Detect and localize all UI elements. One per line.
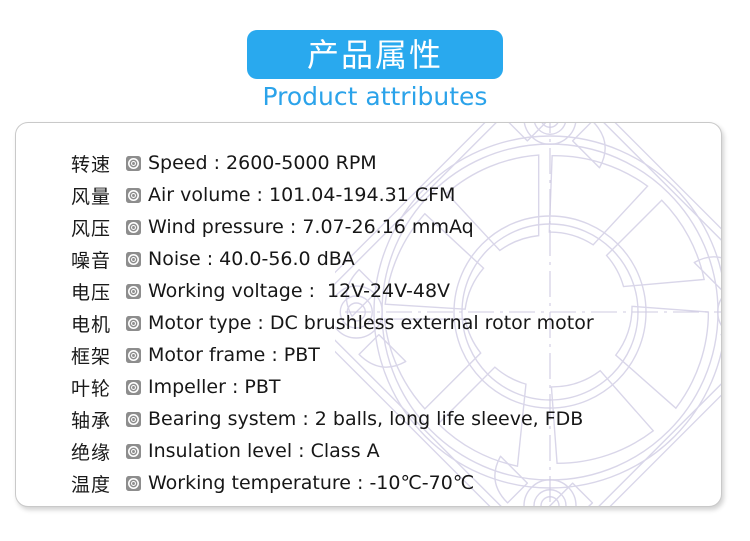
fan-icon xyxy=(126,188,141,203)
title-badge: 产品属性 xyxy=(247,30,503,79)
spec-row: 轴承 Bearing system : 2 balls, long life s… xyxy=(71,403,594,435)
spec-label-cn: 转速 xyxy=(71,150,123,177)
spec-row: 绝缘 Insulation level : Class A xyxy=(71,435,594,467)
fan-icon xyxy=(126,252,141,267)
spec-value-en: Impeller : PBT xyxy=(148,376,281,398)
spec-label-cn: 轴承 xyxy=(71,406,123,433)
attributes-card: 转速 Speed : 2600-5000 RPM 风量 Air volume :… xyxy=(15,122,722,507)
fan-icon xyxy=(126,444,141,459)
spec-value-en: Wind pressure : 7.07-26.16 mmAq xyxy=(148,216,474,238)
spec-value-en: Working temperature : -10℃-70℃ xyxy=(148,472,474,494)
fan-icon xyxy=(126,156,141,171)
fan-icon xyxy=(126,412,141,427)
spec-list: 转速 Speed : 2600-5000 RPM 风量 Air volume :… xyxy=(71,147,594,499)
spec-row: 温度 Working temperature : -10℃-70℃ xyxy=(71,467,594,499)
spec-value-en: Air volume : 101.04-194.31 CFM xyxy=(148,184,455,206)
spec-value-en: Bearing system : 2 balls, long life slee… xyxy=(148,408,583,430)
page-subtitle: Product attributes xyxy=(0,81,750,113)
spec-label-cn: 风压 xyxy=(71,214,123,241)
spec-label-cn: 温度 xyxy=(71,470,123,497)
spec-label-cn: 风量 xyxy=(71,182,123,209)
spec-value-en: Motor type : DC brushless external rotor… xyxy=(148,312,594,334)
spec-row: 噪音 Noise : 40.0-56.0 dBA xyxy=(71,243,594,275)
spec-row: 框架 Motor frame : PBT xyxy=(71,339,594,371)
spec-label-cn: 框架 xyxy=(71,342,123,369)
fan-icon xyxy=(126,476,141,491)
spec-row: 电压 Working voltage : 12V-24V-48V xyxy=(71,275,594,307)
page-header: 产品属性 Product attributes xyxy=(0,0,750,118)
fan-icon xyxy=(126,380,141,395)
spec-row: 风量 Air volume : 101.04-194.31 CFM xyxy=(71,179,594,211)
spec-row: 风压 Wind pressure : 7.07-26.16 mmAq xyxy=(71,211,594,243)
spec-label-cn: 电机 xyxy=(71,310,123,337)
spec-value-en: Motor frame : PBT xyxy=(148,344,320,366)
spec-label-cn: 叶轮 xyxy=(71,374,123,401)
fan-icon xyxy=(126,284,141,299)
spec-label-cn: 电压 xyxy=(71,278,123,305)
page-title: 产品属性 xyxy=(307,39,443,71)
fan-icon xyxy=(126,316,141,331)
fan-icon xyxy=(126,220,141,235)
spec-value-en: Noise : 40.0-56.0 dBA xyxy=(148,248,355,270)
spec-label-cn: 噪音 xyxy=(71,246,123,273)
spec-value-en: Insulation level : Class A xyxy=(148,440,380,462)
spec-row: 转速 Speed : 2600-5000 RPM xyxy=(71,147,594,179)
fan-icon xyxy=(126,348,141,363)
spec-value-en: Speed : 2600-5000 RPM xyxy=(148,152,377,174)
spec-label-cn: 绝缘 xyxy=(71,438,123,465)
spec-value-en: Working voltage : 12V-24V-48V xyxy=(148,280,450,302)
spec-row: 电机 Motor type : DC brushless external ro… xyxy=(71,307,594,339)
spec-row: 叶轮 Impeller : PBT xyxy=(71,371,594,403)
